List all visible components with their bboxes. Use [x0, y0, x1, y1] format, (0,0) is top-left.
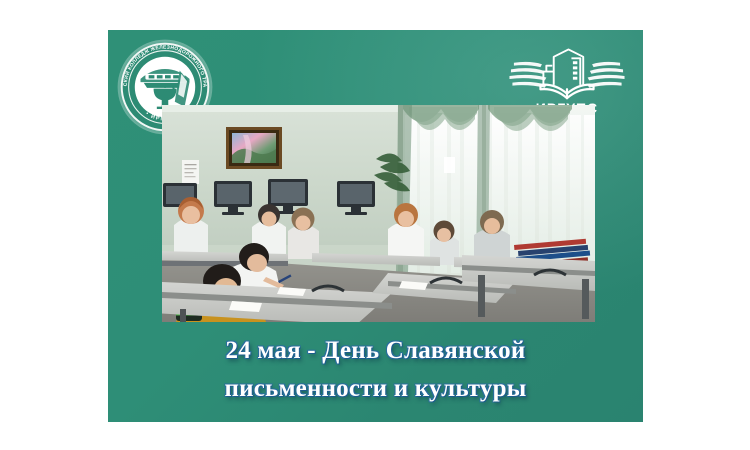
framed-painting-icon: [226, 127, 282, 169]
classroom-photograph: [162, 105, 595, 322]
event-poster-card: МЕДИЦИНСКИЙ КОЛЛЕДЖ ЖЕЛЕЗНОДОРОЖНОГО ТРА…: [108, 30, 643, 422]
irgups-logo-icon: ИРГУПС: [508, 36, 626, 116]
screenshot-root: МЕДИЦИНСКИЙ КОЛЛЕДЖ ЖЕЛЕЗНОДОРОЖНОГО ТРА…: [0, 0, 750, 450]
poster-caption: 24 мая - День Славянской письменности и …: [108, 332, 643, 408]
irgups-open-book-icon: [540, 85, 593, 98]
irgups-building-windows-icon: [573, 61, 577, 79]
wall-notice-icon: [182, 160, 199, 184]
caption-line-1: 24 мая - День Славянской: [108, 332, 643, 370]
caption-line-2: письменности и культуры: [108, 370, 643, 408]
